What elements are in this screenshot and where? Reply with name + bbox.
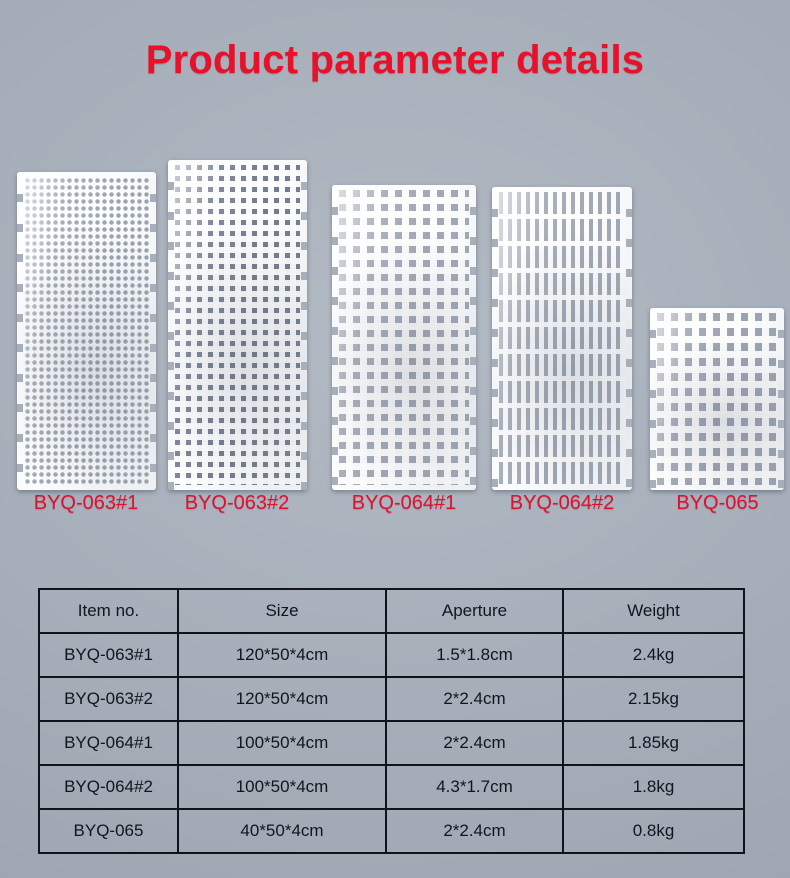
edge-notches-left xyxy=(492,187,498,490)
cell-aperture: 2*2.4cm xyxy=(386,677,563,721)
column-header-size: Size xyxy=(178,589,386,633)
table-row: BYQ-065 40*50*4cm 2*2.4cm 0.8kg xyxy=(39,809,744,853)
plastic-slat-panel xyxy=(492,187,632,490)
product-label-row: BYQ-063#1 BYQ-063#2 BYQ-064#1 BYQ-064#2 … xyxy=(0,492,790,520)
column-header-aperture: Aperture xyxy=(386,589,563,633)
edge-notches-right xyxy=(470,185,476,490)
cell-aperture: 1.5*1.8cm xyxy=(386,633,563,677)
cell-item-no: BYQ-063#2 xyxy=(39,677,178,721)
product-parameter-page: Product parameter details xyxy=(0,0,790,878)
cell-weight: 0.8kg xyxy=(563,809,744,853)
cell-item-no: BYQ-065 xyxy=(39,809,178,853)
perforation-pattern-square-large xyxy=(339,190,469,485)
edge-notches-right xyxy=(301,160,307,490)
cell-item-no: BYQ-063#1 xyxy=(39,633,178,677)
perforation-pattern-narrow-slots xyxy=(499,192,625,485)
product-label-byq-063-2: BYQ-063#2 xyxy=(151,492,323,515)
perforation-pattern-square-medium xyxy=(175,165,300,485)
cell-size: 120*50*4cm xyxy=(178,633,386,677)
cell-size: 120*50*4cm xyxy=(178,677,386,721)
cell-size: 100*50*4cm xyxy=(178,765,386,809)
cell-weight: 2.4kg xyxy=(563,633,744,677)
product-panel-byq-063-1 xyxy=(17,172,156,490)
perforation-pattern-fine-round xyxy=(24,177,149,485)
cell-aperture: 4.3*1.7cm xyxy=(386,765,563,809)
cell-aperture: 2*2.4cm xyxy=(386,809,563,853)
product-panel-byq-065 xyxy=(650,308,784,490)
plastic-slat-panel xyxy=(168,160,307,490)
product-label-byq-064-2: BYQ-064#2 xyxy=(476,492,648,515)
cell-weight: 2.15kg xyxy=(563,677,744,721)
cell-weight: 1.85kg xyxy=(563,721,744,765)
specification-table: Item no. Size Aperture Weight BYQ-063#1 … xyxy=(38,588,745,854)
edge-notches-right xyxy=(778,308,784,490)
table-row: BYQ-064#2 100*50*4cm 4.3*1.7cm 1.8kg xyxy=(39,765,744,809)
edge-notches-left xyxy=(17,172,23,490)
table-header-row: Item no. Size Aperture Weight xyxy=(39,589,744,633)
product-panel-byq-064-1 xyxy=(332,185,476,490)
table-row: BYQ-063#2 120*50*4cm 2*2.4cm 2.15kg xyxy=(39,677,744,721)
product-label-byq-063-1: BYQ-063#1 xyxy=(0,492,172,515)
column-header-weight: Weight xyxy=(563,589,744,633)
cell-item-no: BYQ-064#2 xyxy=(39,765,178,809)
cell-weight: 1.8kg xyxy=(563,765,744,809)
plastic-slat-panel xyxy=(332,185,476,490)
plastic-slat-panel xyxy=(650,308,784,490)
plastic-slat-panel xyxy=(17,172,156,490)
column-header-item-no: Item no. xyxy=(39,589,178,633)
cell-size: 100*50*4cm xyxy=(178,721,386,765)
product-image-strip xyxy=(0,150,790,490)
edge-notches-left xyxy=(168,160,174,490)
cell-item-no: BYQ-064#1 xyxy=(39,721,178,765)
cell-aperture: 2*2.4cm xyxy=(386,721,563,765)
page-title: Product parameter details xyxy=(0,38,790,83)
table-row: BYQ-064#1 100*50*4cm 2*2.4cm 1.85kg xyxy=(39,721,744,765)
cell-size: 40*50*4cm xyxy=(178,809,386,853)
table-row: BYQ-063#1 120*50*4cm 1.5*1.8cm 2.4kg xyxy=(39,633,744,677)
product-label-byq-064-1: BYQ-064#1 xyxy=(318,492,490,515)
product-panel-byq-064-2 xyxy=(492,187,632,490)
perforation-pattern-square-small xyxy=(657,313,777,485)
edge-notches-left xyxy=(332,185,338,490)
edge-notches-right xyxy=(626,187,632,490)
edge-notches-right xyxy=(150,172,156,490)
product-label-byq-065: BYQ-065 xyxy=(645,492,790,515)
product-panel-byq-063-2 xyxy=(168,160,307,490)
edge-notches-left xyxy=(650,308,656,490)
